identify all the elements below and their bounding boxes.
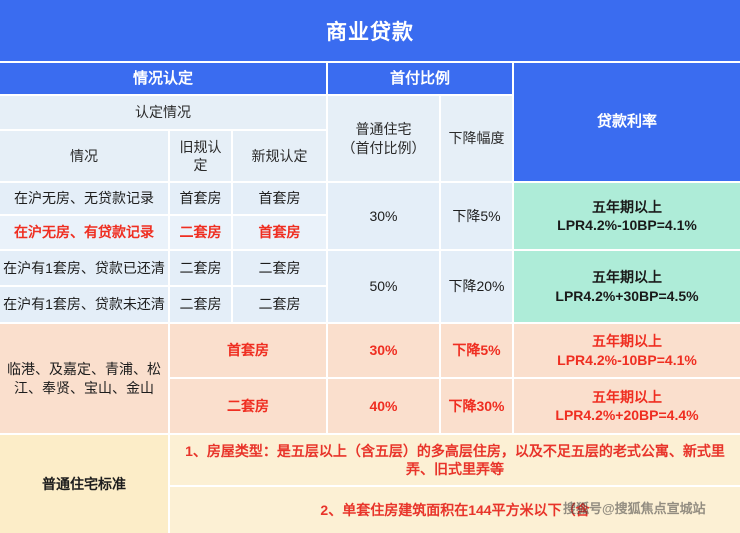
standard-item-1-line1: 1、房屋类型：是五层以上（含五层）的多高层住房，以及不足五层的老式公寓、新式里 xyxy=(185,442,725,460)
districts-label: 临港、及嘉定、青浦、松江、奉贤、宝山、金山 xyxy=(6,360,162,397)
table-row: 在沪无房、有贷款记录 xyxy=(0,216,170,251)
header-col-situation: 情况 xyxy=(0,131,170,183)
group1-rate: 五年期以上 LPR4.2%-10BP=4.1% xyxy=(514,183,740,251)
row-new-rule-label: 首套房 xyxy=(259,189,301,207)
group2-downpayment: 50% xyxy=(328,251,441,324)
district-row-downpayment-label: 40% xyxy=(369,397,397,415)
district-row-rate: 五年期以上 LPR4.2%+20BP=4.4% xyxy=(514,379,740,435)
header-col-old-rule-label: 旧规认定 xyxy=(176,138,225,175)
row-old-rule-label: 二套房 xyxy=(180,259,222,277)
district-row-rate-line2: LPR4.2%-10BP=4.1% xyxy=(557,351,697,369)
header-sub-situation: 认定情况 xyxy=(0,96,328,131)
standard-item-2-label: 2、单套住房建筑面积在144平方米以下（含 xyxy=(320,501,589,519)
row-old-rule-label: 二套房 xyxy=(180,295,222,313)
page-title-banner: 商业贷款 xyxy=(0,0,740,61)
district-row-downpayment-label: 30% xyxy=(369,341,397,359)
row-new-rule: 二套房 xyxy=(233,287,328,324)
row-old-rule: 首套房 xyxy=(170,183,233,216)
standard-item-1: 1、房屋类型：是五层以上（含五层）的多高层住房，以及不足五层的老式公寓、新式里 … xyxy=(170,435,740,487)
row-new-rule-label: 二套房 xyxy=(259,259,301,277)
district-row-downpayment: 40% xyxy=(328,379,441,435)
header-col-ordinary-home-line2: （首付比例） xyxy=(342,139,426,157)
header-col-ordinary-home: 普通住宅 （首付比例） xyxy=(328,96,441,183)
header-col-situation-label: 情况 xyxy=(70,147,98,165)
district-row-rate-line1: 五年期以上 xyxy=(592,332,662,350)
row-old-rule: 二套房 xyxy=(170,216,233,251)
row-old-rule-label: 二套房 xyxy=(180,223,222,241)
district-row-decline: 下降30% xyxy=(441,379,514,435)
header-col-new-rule-label: 新规认定 xyxy=(252,147,308,165)
header-group-downpayment: 首付比例 xyxy=(328,63,514,96)
header-col-old-rule: 旧规认定 xyxy=(170,131,233,183)
district-row-decline-label: 下降5% xyxy=(452,341,500,359)
commercial-loan-table: 商业贷款 情况认定 首付比例 贷款利率 认定情况 普通住宅 （首付比例） 下降幅… xyxy=(0,0,740,533)
district-row-type-label: 首套房 xyxy=(227,341,269,359)
group2-decline: 下降20% xyxy=(441,251,514,324)
group2-rate-line2: LPR4.2%+30BP=4.5% xyxy=(555,287,698,305)
group2-rate-line1: 五年期以上 xyxy=(592,268,662,286)
group2-downpayment-label: 50% xyxy=(369,277,397,295)
row-situation: 在沪无房、有贷款记录 xyxy=(14,223,154,241)
districts-label-cell: 临港、及嘉定、青浦、松江、奉贤、宝山、金山 xyxy=(0,324,170,435)
district-row-decline: 下降5% xyxy=(441,324,514,379)
table-row: 在沪有1套房、贷款未还清 xyxy=(0,287,170,324)
header-group-rate-label: 贷款利率 xyxy=(597,112,657,132)
table-row: 在沪无房、无贷款记录 xyxy=(0,183,170,216)
standard-item-2: 2、单套住房建筑面积在144平方米以下（含 xyxy=(170,487,740,533)
page-title: 商业贷款 xyxy=(326,16,414,46)
group1-downpayment: 30% xyxy=(328,183,441,251)
row-situation: 在沪有1套房、贷款未还清 xyxy=(3,295,165,313)
header-group-situation: 情况认定 xyxy=(0,63,328,96)
row-situation: 在沪无房、无贷款记录 xyxy=(14,189,154,207)
row-situation: 在沪有1套房、贷款已还清 xyxy=(3,259,165,277)
standard-item-1-line2: 弄、旧式里弄等 xyxy=(406,460,504,478)
group1-rate-line2: LPR4.2%-10BP=4.1% xyxy=(557,216,697,234)
row-new-rule: 首套房 xyxy=(233,183,328,216)
table-row: 在沪有1套房、贷款已还清 xyxy=(0,251,170,287)
district-row-decline-label: 下降30% xyxy=(448,397,504,415)
row-new-rule: 二套房 xyxy=(233,251,328,287)
group1-downpayment-label: 30% xyxy=(369,207,397,225)
district-row-rate-line1: 五年期以上 xyxy=(592,388,662,406)
district-row-type-label: 二套房 xyxy=(227,397,269,415)
header-col-decline-label: 下降幅度 xyxy=(449,129,505,147)
district-row-type: 二套房 xyxy=(170,379,328,435)
district-row-rate: 五年期以上 LPR4.2%-10BP=4.1% xyxy=(514,324,740,379)
header-group-rate: 贷款利率 xyxy=(514,63,740,183)
row-old-rule-label: 首套房 xyxy=(180,189,222,207)
group1-decline: 下降5% xyxy=(441,183,514,251)
header-sub-situation-label: 认定情况 xyxy=(135,103,191,121)
row-new-rule-label: 二套房 xyxy=(259,295,301,313)
row-new-rule-label: 首套房 xyxy=(259,223,301,241)
group2-decline-label: 下降20% xyxy=(448,277,504,295)
row-new-rule: 首套房 xyxy=(233,216,328,251)
header-col-new-rule: 新规认定 xyxy=(233,131,328,183)
row-old-rule: 二套房 xyxy=(170,287,233,324)
group1-rate-line1: 五年期以上 xyxy=(592,198,662,216)
header-group-situation-label: 情况认定 xyxy=(133,69,193,89)
group2-rate: 五年期以上 LPR4.2%+30BP=4.5% xyxy=(514,251,740,324)
district-row-type: 首套房 xyxy=(170,324,328,379)
district-row-downpayment: 30% xyxy=(328,324,441,379)
header-col-ordinary-home-line1: 普通住宅 xyxy=(356,120,412,138)
standard-label-cell: 普通住宅标准 xyxy=(0,435,170,533)
row-old-rule: 二套房 xyxy=(170,251,233,287)
header-group-downpayment-label: 首付比例 xyxy=(390,69,450,89)
header-col-decline: 下降幅度 xyxy=(441,96,514,183)
group1-decline-label: 下降5% xyxy=(452,207,500,225)
district-row-rate-line2: LPR4.2%+20BP=4.4% xyxy=(555,406,698,424)
standard-label: 普通住宅标准 xyxy=(42,475,126,493)
